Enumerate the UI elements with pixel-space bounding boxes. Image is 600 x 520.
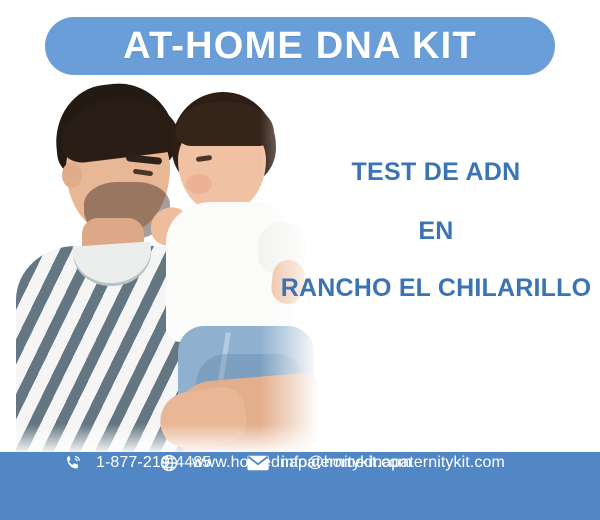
headline-line-3: RANCHO EL CHILARILLO — [278, 276, 594, 301]
footer-bar: www.homednapaternitykit.com 1-877-219-44… — [0, 452, 600, 520]
headline-line-2: EN — [278, 219, 594, 244]
phone-text[interactable]: 1-877-219-4485 — [96, 454, 211, 472]
man-ear-shape — [62, 162, 82, 188]
child-cheek-shape — [186, 174, 212, 194]
email-text[interactable]: info@homednapaternitykit.com — [281, 454, 505, 472]
footer-contact-row: 1-877-219-4485 info@homednapaternitykit.… — [62, 452, 505, 474]
envelope-icon — [247, 452, 269, 474]
header-pill: AT-HOME DNA KIT — [45, 17, 555, 75]
page-title: AT-HOME DNA KIT — [123, 27, 477, 65]
headline-block: TEST DE ADN EN RANCHO EL CHILARILLO — [278, 160, 594, 301]
phone-icon — [62, 452, 84, 474]
dna-kit-banner: AT-HOME DNA KIT — [0, 0, 600, 520]
headline-line-1: TEST DE ADN — [278, 160, 594, 185]
